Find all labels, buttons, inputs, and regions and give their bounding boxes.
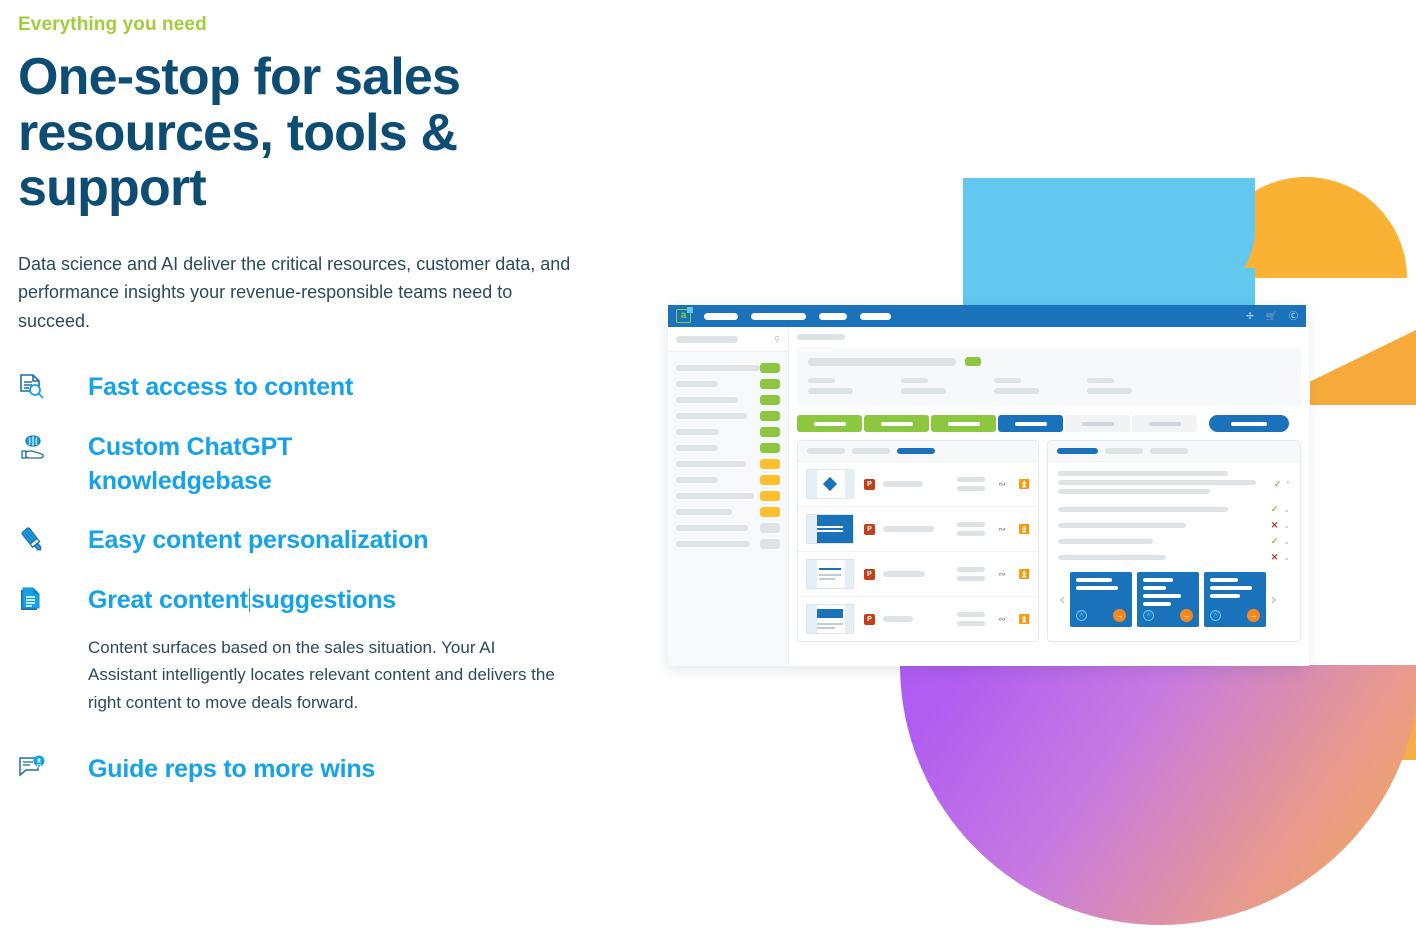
page-title: One-stop for sales resources, tools & su…	[18, 50, 498, 217]
content-title	[883, 616, 913, 622]
sidebar-item[interactable]	[676, 392, 780, 408]
feature-title[interactable]: Great contentsuggestions	[88, 584, 568, 618]
sidebar-item-badge	[760, 411, 780, 421]
download-icon[interactable]: ⏫	[1019, 569, 1030, 580]
app-topbar: a ✢ 🛒 Ⓒ	[668, 305, 1306, 327]
eyebrow-label: Everything you need	[18, 0, 618, 36]
button-label	[1082, 422, 1114, 426]
chevron-right-icon[interactable]: ›	[1271, 592, 1276, 607]
header-card-top	[808, 357, 1290, 366]
sidebar-item-badge	[760, 475, 780, 485]
user-icon[interactable]: Ⓒ	[1289, 312, 1298, 321]
content-panels: P∾⏫P∾⏫P∾⏫P∾⏫	[797, 440, 1301, 642]
button-label	[1149, 422, 1181, 426]
landing-page: Everything you need One-stop for sales r…	[0, 0, 1416, 933]
feature-body: Easy content personalization	[58, 524, 428, 558]
download-icon[interactable]: ⏫	[1019, 479, 1030, 490]
sidebar-item[interactable]	[676, 376, 780, 392]
feature-item-guide-reps[interactable]: Guide reps to more wins	[18, 753, 618, 787]
assistant-icon: Ⓐ	[1076, 610, 1087, 621]
sidebar-item-label	[676, 381, 718, 387]
speech-bubble-lightbulb-icon	[18, 753, 58, 781]
panel-tab-2[interactable]	[852, 448, 890, 454]
header-card	[797, 347, 1301, 406]
content-title	[883, 481, 923, 487]
feature-body: Custom ChatGPT knowledgebase	[58, 431, 358, 499]
recommendation-carousel: ‹ Ⓐ→Ⓐ→Ⓐ→ ›	[1058, 572, 1290, 627]
panel-tab-1[interactable]	[807, 448, 845, 454]
metadata-value	[901, 388, 946, 394]
sidebar-item-badge	[760, 507, 780, 517]
app-sidebar: ⚲	[668, 327, 789, 666]
chevron-up-icon[interactable]: ^	[1286, 480, 1290, 489]
feature-body: Fast access to content	[58, 371, 353, 405]
sidebar-item-label	[676, 365, 760, 371]
summary-lines: ✓ ^	[1058, 471, 1290, 498]
sidebar-item[interactable]	[676, 424, 780, 440]
checklist-row[interactable]: ✕⌄	[1058, 553, 1290, 562]
sidebar-item-badge	[760, 443, 780, 453]
feature-body: Great contentsuggestions Content surface…	[58, 584, 568, 716]
sidebar-item[interactable]	[676, 488, 780, 504]
cart-icon[interactable]: 🛒	[1266, 312, 1277, 321]
toolbar-button-green[interactable]	[797, 415, 862, 432]
card-go-button[interactable]: →	[1113, 609, 1126, 622]
checklist-label	[1058, 539, 1153, 544]
content-thumbnail	[806, 559, 854, 589]
panel-tab-2[interactable]	[1105, 448, 1143, 454]
toolbar-button-gray[interactable]	[1132, 415, 1197, 432]
sidebar-item[interactable]	[676, 520, 780, 536]
feature-title-before-caret: Great content	[88, 586, 248, 614]
button-label	[814, 422, 846, 426]
paintbrush-icon	[18, 524, 58, 554]
toolbar-button-gray[interactable]	[1065, 415, 1130, 432]
intro-paragraph: Data science and AI deliver the critical…	[18, 250, 578, 335]
button-label	[948, 422, 980, 426]
hero-text-column: Everything you need One-stop for sales r…	[18, 0, 618, 812]
sidebar-item[interactable]	[676, 360, 780, 376]
nav-pill[interactable]	[751, 313, 806, 320]
card-line	[1210, 578, 1238, 582]
metadata-column	[808, 378, 901, 394]
share-icon[interactable]: ∾	[998, 569, 1006, 580]
content-row[interactable]: P∾⏫	[798, 552, 1038, 597]
sidebar-item[interactable]	[676, 408, 780, 424]
toolbar-button-blue[interactable]	[998, 415, 1063, 432]
card-line	[1210, 594, 1240, 598]
sidebar-item-label	[676, 445, 718, 451]
status-badge	[965, 357, 981, 366]
content-meta	[957, 567, 985, 581]
metadata-value	[1087, 388, 1132, 394]
content-meta	[957, 522, 985, 536]
toolbar-button-green[interactable]	[931, 415, 996, 432]
checklist-row[interactable]: ✓⌄	[1058, 537, 1290, 546]
feature-title[interactable]: Fast access to content	[88, 371, 353, 405]
chevron-down-icon[interactable]: ⌄	[1283, 537, 1290, 546]
checklist-label	[1058, 523, 1186, 528]
check-icon: ✓	[1271, 537, 1279, 546]
chevron-left-icon[interactable]: ‹	[1060, 592, 1065, 607]
checklist-row[interactable]: ✕⌄	[1058, 521, 1290, 530]
app-logo-icon[interactable]: a	[676, 309, 691, 323]
sidebar-item-label	[676, 509, 732, 515]
sidebar-item-label	[676, 525, 748, 531]
sidebar-item-label	[676, 477, 718, 483]
panel-tabs	[1048, 441, 1300, 462]
sidebar-item-label	[676, 429, 719, 435]
content-rows: P∾⏫P∾⏫P∾⏫P∾⏫	[798, 462, 1038, 641]
sidebar-item-badge	[760, 539, 780, 549]
card-footer: Ⓐ→	[1076, 609, 1126, 622]
feature-item-personalization[interactable]: Easy content personalization	[18, 524, 618, 558]
metadata-label	[994, 378, 1021, 383]
content-meta	[957, 477, 985, 491]
recommendation-card[interactable]: Ⓐ→	[1137, 572, 1199, 627]
sidebar-item-badge	[760, 395, 780, 405]
sidebar-item-label	[676, 541, 750, 547]
app-body: ⚲ P∾⏫P∾⏫P∾⏫P∾⏫	[668, 327, 1306, 666]
content-title	[883, 526, 934, 532]
sidebar-item-badge	[760, 491, 780, 501]
card-go-button[interactable]: →	[1247, 609, 1260, 622]
document-lines-icon	[18, 584, 58, 614]
sidebar-item-label	[676, 397, 738, 403]
card-footer: Ⓐ→	[1143, 609, 1193, 622]
sidebar-item[interactable]	[676, 472, 780, 488]
card-go-button[interactable]: →	[1180, 609, 1193, 622]
assistant-icon: Ⓐ	[1143, 610, 1154, 621]
feature-title[interactable]: Custom ChatGPT knowledgebase	[88, 431, 358, 499]
sidebar-item-badge	[760, 363, 780, 373]
feature-list: Fast access to content Custom ChatGPT kn…	[18, 371, 618, 786]
search-input[interactable]	[676, 336, 738, 343]
sidebar-item[interactable]	[676, 456, 780, 472]
app-mockup-window: a ✢ 🛒 Ⓒ ⚲	[668, 305, 1306, 666]
file-type-badge: P	[864, 524, 875, 535]
checklist: ✓⌄✕⌄✓⌄✕⌄	[1058, 505, 1290, 562]
text-cursor	[249, 588, 250, 612]
metadata-column	[994, 378, 1087, 394]
cross-icon: ✕	[1271, 521, 1279, 530]
content-row[interactable]: P∾⏫	[798, 462, 1038, 507]
metadata-column	[901, 378, 994, 394]
sidebar-item-badge	[760, 523, 780, 533]
sidebar-item-label	[676, 461, 746, 467]
download-icon[interactable]: ⏫	[1019, 524, 1030, 535]
summary-row: ✓ ^	[1058, 471, 1290, 498]
recommendation-card[interactable]: Ⓐ→	[1204, 572, 1266, 627]
button-label	[1015, 422, 1047, 426]
sidebar-item[interactable]	[676, 504, 780, 520]
panel-tabs	[798, 441, 1038, 462]
header-metadata	[808, 378, 1290, 394]
sidebar-item-label	[676, 493, 754, 499]
brain-in-hand-icon	[18, 431, 58, 463]
sidebar-item-badge	[760, 379, 780, 389]
chevron-down-icon[interactable]: ⌄	[1283, 521, 1290, 530]
panel-tab-3[interactable]	[897, 448, 935, 454]
content-thumbnail	[806, 514, 854, 544]
content-meta	[957, 612, 985, 626]
breadcrumb	[797, 334, 845, 340]
file-type-badge: P	[864, 569, 875, 580]
button-label	[881, 422, 913, 426]
download-icon[interactable]: ⏫	[1019, 614, 1030, 625]
card-line	[1143, 586, 1166, 590]
panel-tab-3[interactable]	[1150, 448, 1188, 454]
share-icon[interactable]: ∾	[998, 479, 1006, 490]
feature-description: Content surfaces based on the sales situ…	[88, 634, 568, 717]
header-card-title	[808, 358, 956, 366]
card-line	[1143, 578, 1173, 582]
carousel-cards: Ⓐ→Ⓐ→Ⓐ→	[1070, 572, 1266, 627]
check-icon: ✓	[1274, 480, 1282, 489]
metadata-label	[808, 378, 835, 383]
feature-title-after-caret: suggestions	[251, 586, 396, 614]
content-row[interactable]: P∾⏫	[798, 507, 1038, 552]
feature-item-chatgpt-knowledgebase[interactable]: Custom ChatGPT knowledgebase	[18, 431, 618, 499]
metadata-label	[1087, 378, 1114, 383]
card-line	[1143, 594, 1181, 598]
recommendation-card[interactable]: Ⓐ→	[1070, 572, 1132, 627]
nav-pill[interactable]	[860, 313, 891, 320]
content-row[interactable]: P∾⏫	[798, 597, 1038, 641]
search-icon[interactable]: ⚲	[774, 335, 780, 344]
document-search-icon	[18, 371, 58, 401]
sidebar-item-badge	[760, 427, 780, 437]
content-title	[883, 571, 925, 577]
share-icon[interactable]: ∾	[998, 524, 1006, 535]
checklist-label	[1058, 507, 1228, 512]
nav-pill[interactable]	[819, 313, 847, 320]
chevron-down-icon[interactable]: ⌄	[1283, 553, 1290, 562]
sidebar-item-badge	[760, 459, 780, 469]
toolbar-button-green[interactable]	[864, 415, 929, 432]
panel-tab-1[interactable]	[1057, 448, 1098, 454]
metadata-label	[901, 378, 928, 383]
card-line	[1076, 578, 1112, 582]
assistant-icon: Ⓐ	[1210, 610, 1221, 621]
check-icon: ✓	[1271, 505, 1279, 514]
nav-pill[interactable]	[704, 313, 738, 320]
feature-item-content-suggestions[interactable]: Great contentsuggestions Content surface…	[18, 584, 618, 716]
metadata-column	[1087, 378, 1180, 394]
toolbar-button-pill[interactable]	[1209, 415, 1289, 432]
app-main: P∾⏫P∾⏫P∾⏫P∾⏫	[789, 327, 1309, 666]
checklist-label	[1058, 555, 1166, 560]
button-label	[1231, 422, 1267, 426]
sidebar-rows	[668, 352, 788, 552]
metadata-value	[994, 388, 1039, 394]
card-footer: Ⓐ→	[1210, 609, 1260, 622]
feature-title[interactable]: Guide reps to more wins	[88, 753, 375, 787]
file-type-badge: P	[864, 479, 875, 490]
chevron-down-icon[interactable]: ⌄	[1283, 505, 1290, 514]
metadata-value	[808, 388, 853, 394]
content-list-panel: P∾⏫P∾⏫P∾⏫P∾⏫	[797, 440, 1039, 642]
topbar-actions: ✢ 🛒 Ⓒ	[1246, 312, 1298, 321]
insights-body: ✓ ^ ✓⌄✕⌄✓⌄✕⌄ ‹ Ⓐ→Ⓐ→Ⓐ→ ›	[1048, 462, 1300, 636]
card-line	[1210, 586, 1252, 590]
share-icon[interactable]: ∾	[998, 614, 1006, 625]
feature-item-fast-access[interactable]: Fast access to content	[18, 371, 618, 405]
content-thumbnail	[806, 469, 854, 499]
insights-panel: ✓ ^ ✓⌄✕⌄✓⌄✕⌄ ‹ Ⓐ→Ⓐ→Ⓐ→ ›	[1047, 440, 1301, 642]
sidebar-search[interactable]: ⚲	[668, 327, 788, 352]
content-thumbnail	[806, 604, 854, 634]
sidebar-item-label	[676, 413, 747, 419]
cross-icon: ✕	[1271, 553, 1279, 562]
feature-title[interactable]: Easy content personalization	[88, 524, 428, 558]
wrench-icon[interactable]: ✢	[1246, 312, 1254, 321]
sidebar-item[interactable]	[676, 440, 780, 456]
card-line	[1076, 586, 1118, 590]
sidebar-item[interactable]	[676, 536, 780, 552]
action-button-row	[797, 415, 1301, 432]
feature-body: Guide reps to more wins	[58, 753, 375, 787]
card-line	[1143, 602, 1171, 606]
checklist-row[interactable]: ✓⌄	[1058, 505, 1290, 514]
file-type-badge: P	[864, 614, 875, 625]
